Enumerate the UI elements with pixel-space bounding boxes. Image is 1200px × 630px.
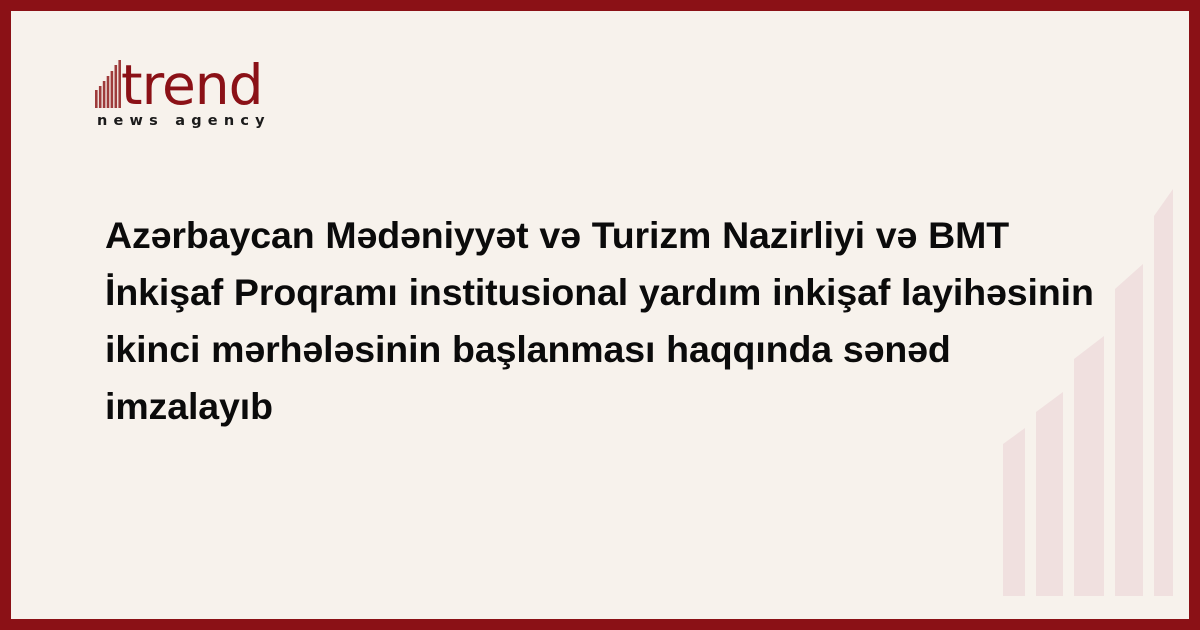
- trend-news-agency-logo[interactable]: trend news agency: [95, 49, 295, 141]
- logo-wordmark: trend: [121, 58, 263, 113]
- og-share-card: trend news agency Azərbaycan Mədəniyyət …: [0, 0, 1200, 630]
- trend-bars-mark-icon: [95, 60, 123, 108]
- logo-tagline: news agency: [97, 113, 295, 129]
- card-canvas: trend news agency Azərbaycan Mədəniyyət …: [11, 11, 1189, 619]
- logo-primary-row: trend: [95, 49, 295, 111]
- article-headline: Azərbaycan Mədəniyyət və Turizm Nazirliy…: [105, 207, 1095, 435]
